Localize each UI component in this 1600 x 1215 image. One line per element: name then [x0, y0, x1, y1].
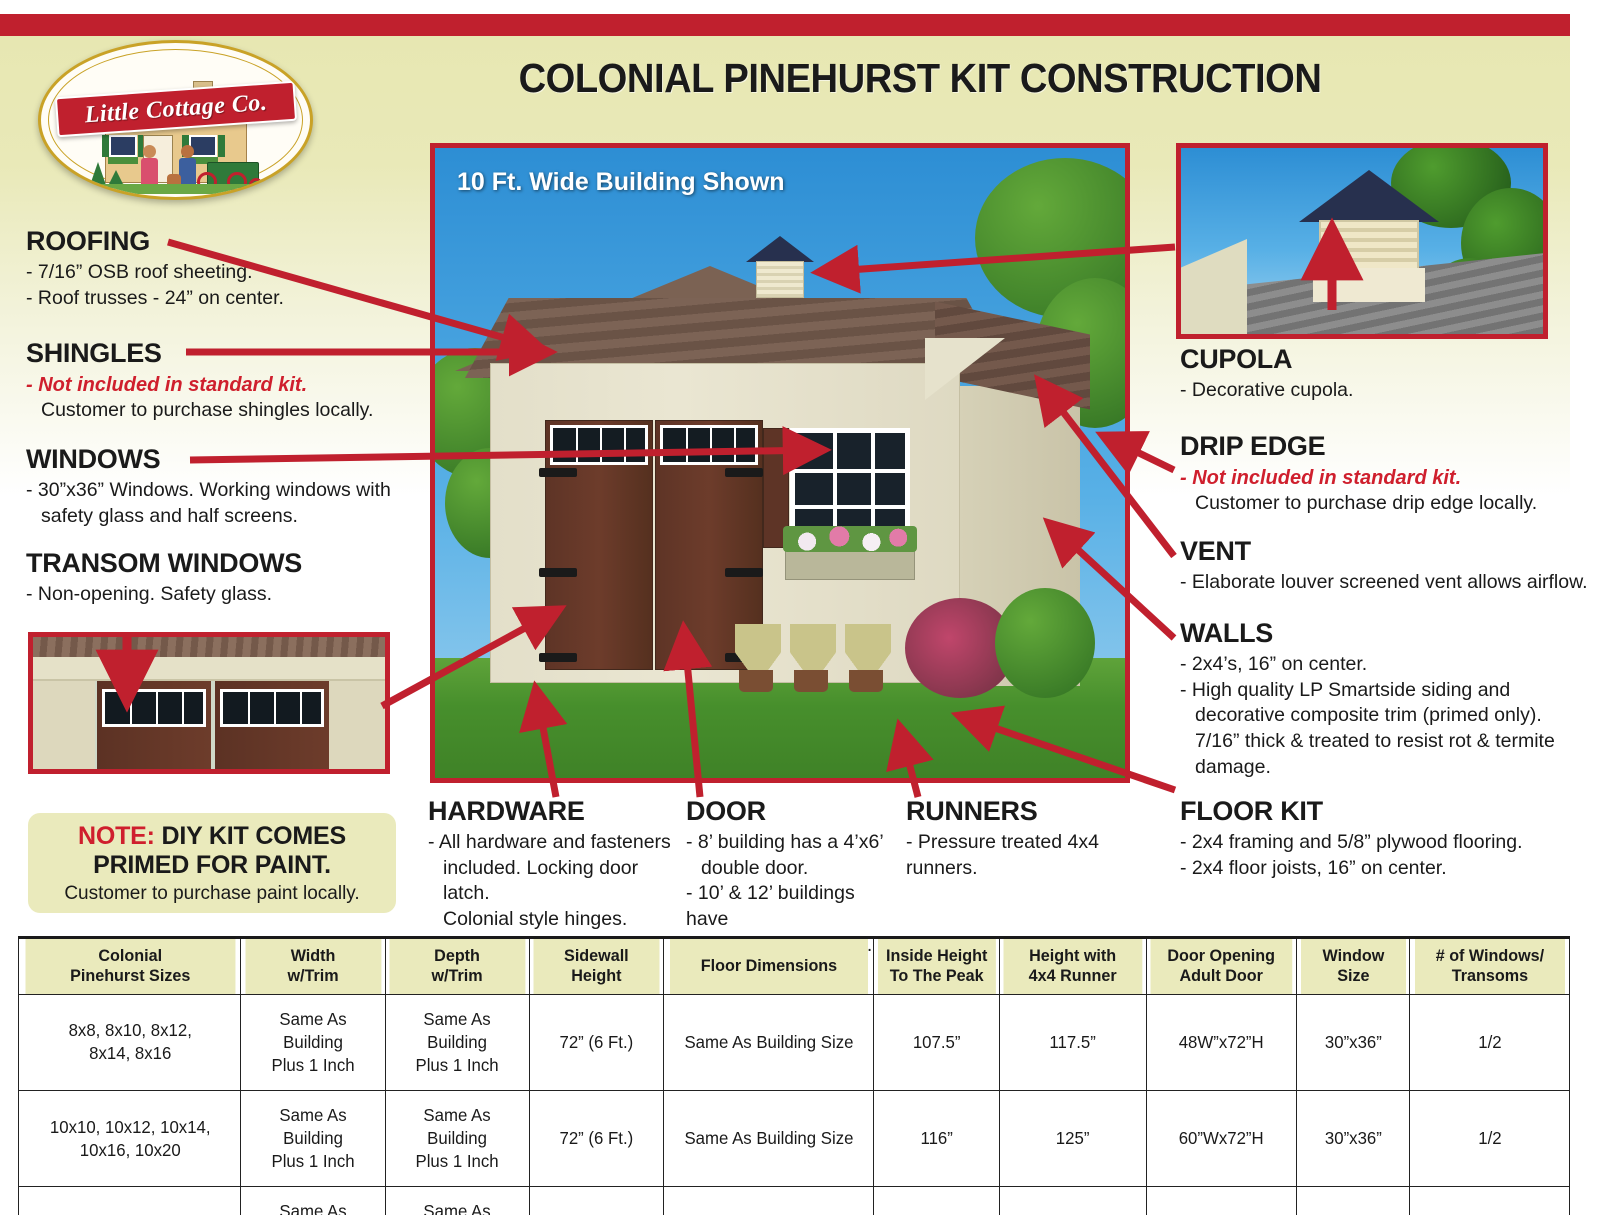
spec-line: Customer to purchase drip edge locally. — [1180, 491, 1585, 517]
main-photo-caption: 10 Ft. Wide Building Shown — [457, 168, 785, 197]
table-column-header: Depthw/Trim — [389, 938, 526, 995]
table-cell: 127” — [1002, 1187, 1143, 1215]
spec-heading: DOOR — [686, 796, 896, 827]
logo-text: Little Cottage Co. — [83, 89, 267, 129]
page-title: COLONIAL PINEHURST KIT CONSTRUCTION — [455, 55, 1385, 102]
table-row: 12x12, 12x14, 12x16,12x18, 12x20, 12x24S… — [19, 1187, 1570, 1215]
table-header-row: ColonialPinehurst SizesWidthw/TrimDepthw… — [19, 938, 1570, 995]
spec-line: - 8’ building has a 4’x6’ — [686, 830, 896, 856]
spec-line-not-included: - Not included in standard kit. — [26, 372, 426, 398]
spec-line: included. Locking door latch. — [428, 856, 678, 907]
spec-line: - Non-opening. Safety glass. — [26, 582, 426, 608]
table-cell: Same As BuildingPlus 1 Inch — [388, 1187, 526, 1215]
spec-heading: WINDOWS — [26, 444, 426, 475]
spec-heading: HARDWARE — [428, 796, 678, 827]
note-label: NOTE: — [78, 822, 155, 850]
main-building-photo: 10 Ft. Wide Building Shown — [430, 143, 1130, 783]
table-header: ColonialPinehurst SizesWidthw/TrimDepthw… — [19, 938, 1570, 995]
note-line-1-rest: DIY KIT COMES — [155, 822, 346, 850]
spec-line-not-included: - Not included in standard kit. — [1180, 465, 1585, 491]
table-row: 10x10, 10x12, 10x14,10x16, 10x20Same As … — [19, 1091, 1570, 1187]
table-cell: 30”x36” — [1299, 994, 1407, 1090]
spec-line: damage. — [1180, 755, 1590, 781]
table-cell: Same As BuildingPlus 1 Inch — [244, 1091, 382, 1187]
table-cell: 60”Wx72”H — [1149, 1091, 1293, 1187]
table-cell: Same As Building Size — [668, 994, 870, 1090]
company-logo: Little Cottage Co. — [38, 40, 313, 200]
table-cell: 123” — [876, 1187, 996, 1215]
spec-heading: RUNNERS — [906, 796, 1171, 827]
spec-line: - 30”x36” Windows. Working windows with — [26, 478, 426, 504]
table-cell: 8x8, 8x10, 8x12,8x14, 8x16 — [23, 994, 237, 1090]
table-cell: 117.5” — [1002, 994, 1143, 1090]
table-cell: 48W”x72”H — [1149, 994, 1293, 1090]
table-cell: 72” (6 Ft.) — [532, 1187, 661, 1215]
spec-line: safety glass and half screens. — [26, 504, 426, 530]
spec-line: double door. — [686, 856, 896, 882]
table-cell: 60”Wx72”H — [1149, 1187, 1293, 1215]
table-cell: 72” (6 Ft.) — [532, 994, 661, 1090]
spec-line: - 2x4’s, 16” on center. — [1180, 652, 1590, 678]
table-column-header: # of Windows/Transoms — [1414, 938, 1566, 995]
table-cell: 12x12, 12x14, 12x16,12x18, 12x20, 12x24 — [23, 1187, 237, 1215]
spec-line: - 10’ & 12’ buildings have — [686, 881, 896, 932]
spec-heading: VENT — [1180, 536, 1595, 567]
table-column-header: Height with4x4 Runner — [1003, 938, 1143, 995]
spec-line: decorative composite trim (primed only). — [1180, 703, 1590, 729]
table-cell: 72” (6 Ft.) — [532, 1091, 661, 1187]
table-cell: 10x10, 10x12, 10x14,10x16, 10x20 — [23, 1091, 237, 1187]
table-row: 8x8, 8x10, 8x12,8x14, 8x16Same As Buildi… — [19, 994, 1570, 1090]
table-column-header: Inside HeightTo The Peak — [877, 938, 996, 995]
spec-line: - 2x4 framing and 5/8” plywood flooring. — [1180, 830, 1590, 856]
table-column-header: SidewallHeight — [533, 938, 661, 995]
spec-heading: SHINGLES — [26, 338, 426, 369]
note-line-3: Customer to purchase paint locally. — [64, 883, 359, 905]
spec-line: Colonial style hinges. — [428, 907, 678, 933]
table-cell: Same As BuildingPlus 1 Inch — [244, 994, 382, 1090]
spec-roofing: ROOFING - 7/16” OSB roof sheeting. - Roo… — [26, 226, 416, 311]
table-cell: 30”x36” — [1299, 1091, 1407, 1187]
spec-heading: CUPOLA — [1180, 344, 1580, 375]
table-cell: 1/2 — [1413, 1091, 1566, 1187]
spec-line: - 7/16” OSB roof sheeting. — [26, 260, 416, 286]
spec-line: - Elaborate louver screened vent allows … — [1180, 570, 1595, 596]
table-cell: Same As BuildingPlus 1 Inch — [244, 1187, 382, 1215]
spec-line: Customer to purchase shingles locally. — [26, 398, 426, 424]
spec-vent: VENT - Elaborate louver screened vent al… — [1180, 536, 1595, 596]
spec-heading: ROOFING — [26, 226, 416, 257]
note-box: NOTE: DIY KIT COMES PRIMED FOR PAINT. Cu… — [28, 813, 396, 913]
spec-transom-windows: TRANSOM WINDOWS - Non-opening. Safety gl… — [26, 548, 426, 608]
table-column-header: Widthw/Trim — [245, 938, 382, 995]
specifications-table: ColonialPinehurst SizesWidthw/TrimDepthw… — [18, 936, 1570, 1215]
spec-heading: DRIP EDGE — [1180, 431, 1585, 462]
spec-line: - High quality LP Smartside siding and — [1180, 678, 1590, 704]
spec-line: - Decorative cupola. — [1180, 378, 1580, 404]
table-cell: Same As BuildingPlus 1 Inch — [388, 1091, 526, 1187]
spec-line: 7/16” thick & treated to resist rot & te… — [1180, 729, 1590, 755]
transom-inset-photo — [28, 632, 390, 774]
table-cell: Same As Building Size — [668, 1187, 870, 1215]
cupola-on-main-photo — [752, 236, 808, 298]
table-column-header: WindowSize — [1300, 938, 1407, 995]
table-cell: 125” — [1002, 1091, 1143, 1187]
spec-heading: WALLS — [1180, 618, 1590, 649]
spec-walls: WALLS - 2x4’s, 16” on center. - High qua… — [1180, 618, 1590, 781]
spec-runners: RUNNERS - Pressure treated 4x4 runners. — [906, 796, 1171, 881]
table-column-header: Floor Dimensions — [669, 938, 868, 995]
table-column-header: ColonialPinehurst Sizes — [24, 938, 235, 995]
spec-line: - Pressure treated 4x4 runners. — [906, 830, 1171, 881]
table-cell: 107.5” — [876, 994, 996, 1090]
spec-shingles: SHINGLES - Not included in standard kit.… — [26, 338, 426, 424]
spec-line: - All hardware and fasteners — [428, 830, 678, 856]
note-line-2: PRIMED FOR PAINT. — [93, 851, 331, 880]
spec-door: DOOR - 8’ building has a 4’x6’ double do… — [686, 796, 896, 959]
table-cell: Same As Building Size — [668, 1091, 870, 1187]
spec-drip-edge: DRIP EDGE - Not included in standard kit… — [1180, 431, 1585, 517]
spec-floor-kit: FLOOR KIT - 2x4 framing and 5/8” plywood… — [1180, 796, 1590, 881]
spec-line: - Roof trusses - 24” on center. — [26, 286, 416, 312]
table-cell: 1/2 — [1413, 994, 1566, 1090]
table-cell: 116” — [876, 1091, 996, 1187]
top-red-band — [0, 14, 1570, 36]
cupola-inset-photo — [1176, 143, 1548, 339]
spec-cupola: CUPOLA - Decorative cupola. — [1180, 344, 1580, 404]
table-column-header: Door OpeningAdult Door — [1150, 938, 1293, 995]
spec-windows: WINDOWS - 30”x36” Windows. Working windo… — [26, 444, 426, 529]
spec-heading: FLOOR KIT — [1180, 796, 1590, 827]
table-body: 8x8, 8x10, 8x12,8x14, 8x16Same As Buildi… — [19, 994, 1570, 1215]
note-line-1: NOTE: DIY KIT COMES — [78, 822, 346, 851]
table-cell: 1/2 — [1413, 1187, 1566, 1215]
spec-hardware: HARDWARE - All hardware and fasteners in… — [428, 796, 678, 933]
spec-line: - 2x4 floor joists, 16” on center. — [1180, 856, 1590, 882]
table-cell: Same As BuildingPlus 1 Inch — [388, 994, 526, 1090]
spec-sheet-page: Little Cottage Co. COLONIAL PINEHURST KI… — [0, 0, 1600, 1215]
table-cell: 30”x36” — [1299, 1187, 1407, 1215]
spec-heading: TRANSOM WINDOWS — [26, 548, 426, 579]
